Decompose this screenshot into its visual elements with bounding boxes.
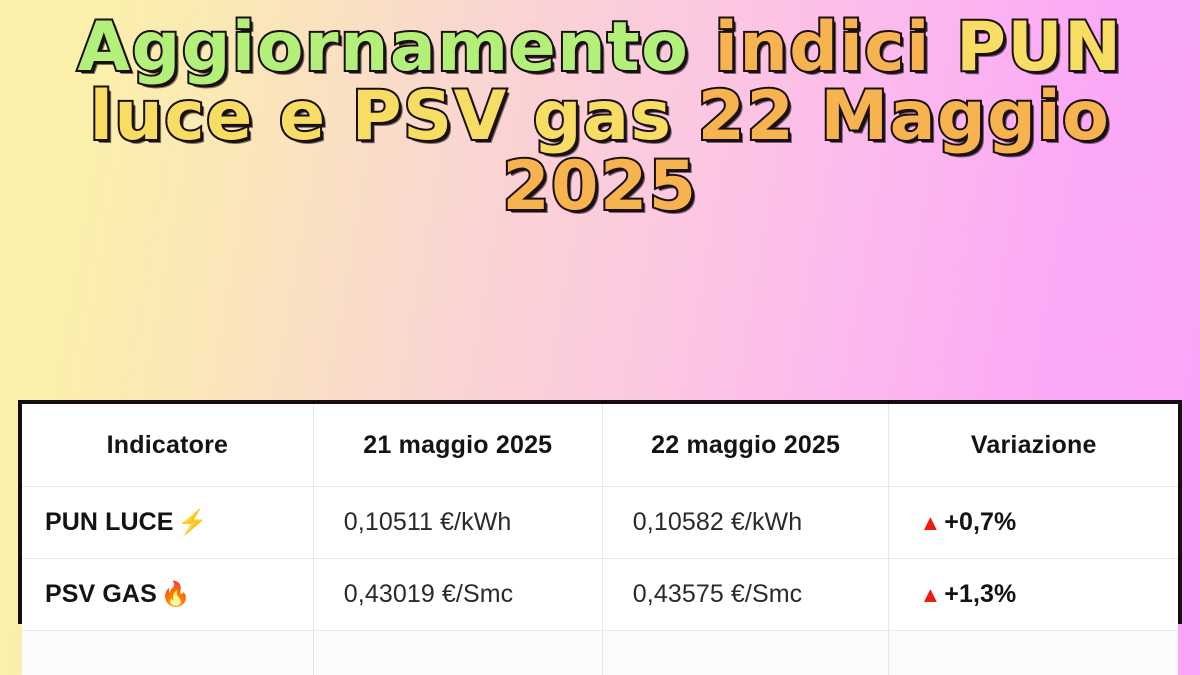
title-word: luce [90, 83, 254, 150]
triangle-up-icon: ▲ [919, 510, 941, 535]
lightning-bolt-icon: ⚡ [178, 509, 208, 536]
title-word: PUN [956, 14, 1122, 81]
title-word: indici [715, 14, 931, 81]
price-table: Indicatore 21 maggio 2025 22 maggio 2025… [22, 404, 1178, 675]
indicator-label: PSV GAS [45, 580, 157, 608]
title-word: Aggiornamento [77, 14, 689, 81]
cell-variation: ▲+0,7% [889, 487, 1178, 559]
cell-variation: ▲+1,3% [889, 559, 1178, 631]
cell-value-prev: 0,43019 €/Smc [313, 559, 602, 631]
table-row: PSV GAS🔥 0,43019 €/Smc 0,43575 €/Smc ▲+1… [22, 559, 1178, 631]
title-line-3: 2025 [0, 153, 1200, 220]
title-word: PSV [352, 83, 508, 150]
title-word: 22 [698, 83, 796, 150]
title-word: Maggio [820, 83, 1110, 150]
cell-value-curr: 0,10582 €/kWh [602, 487, 889, 559]
spacer-cell [313, 631, 602, 675]
table-header: Indicatore 21 maggio 2025 22 maggio 2025… [22, 404, 1178, 487]
table-header-row: Indicatore 21 maggio 2025 22 maggio 2025… [22, 404, 1178, 487]
title-word: gas [533, 83, 673, 150]
title-word: e [279, 83, 327, 150]
column-header-date-curr: 22 maggio 2025 [602, 404, 889, 487]
table-row: PUN LUCE⚡ 0,10511 €/kWh 0,10582 €/kWh ▲+… [22, 487, 1178, 559]
table-body: PUN LUCE⚡ 0,10511 €/kWh 0,10582 €/kWh ▲+… [22, 487, 1178, 675]
cell-value-prev: 0,10511 €/kWh [313, 487, 602, 559]
variation-value: +1,3% [944, 580, 1016, 608]
page-title: Aggiornamento indici PUN luce e PSV gas … [0, 14, 1200, 220]
spacer-cell [889, 631, 1178, 675]
price-table-container: Indicatore 21 maggio 2025 22 maggio 2025… [18, 400, 1182, 624]
spacer-cell [602, 631, 889, 675]
indicator-label: PUN LUCE [45, 508, 174, 536]
triangle-up-icon: ▲ [919, 582, 941, 607]
cell-indicator: PSV GAS🔥 [22, 559, 313, 631]
column-header-date-prev: 21 maggio 2025 [313, 404, 602, 487]
title-word: 2025 [502, 153, 697, 220]
column-header-variazione: Variazione [889, 404, 1178, 487]
spacer-cell [22, 631, 313, 675]
title-line-1: Aggiornamento indici PUN [0, 14, 1200, 81]
column-header-indicatore: Indicatore [22, 404, 313, 487]
table-footer-spacer [22, 631, 1178, 675]
title-line-2: luce e PSV gas 22 Maggio [0, 83, 1200, 150]
cell-indicator: PUN LUCE⚡ [22, 487, 313, 559]
variation-value: +0,7% [944, 508, 1016, 536]
fire-icon: 🔥 [161, 581, 191, 608]
cell-value-curr: 0,43575 €/Smc [602, 559, 889, 631]
